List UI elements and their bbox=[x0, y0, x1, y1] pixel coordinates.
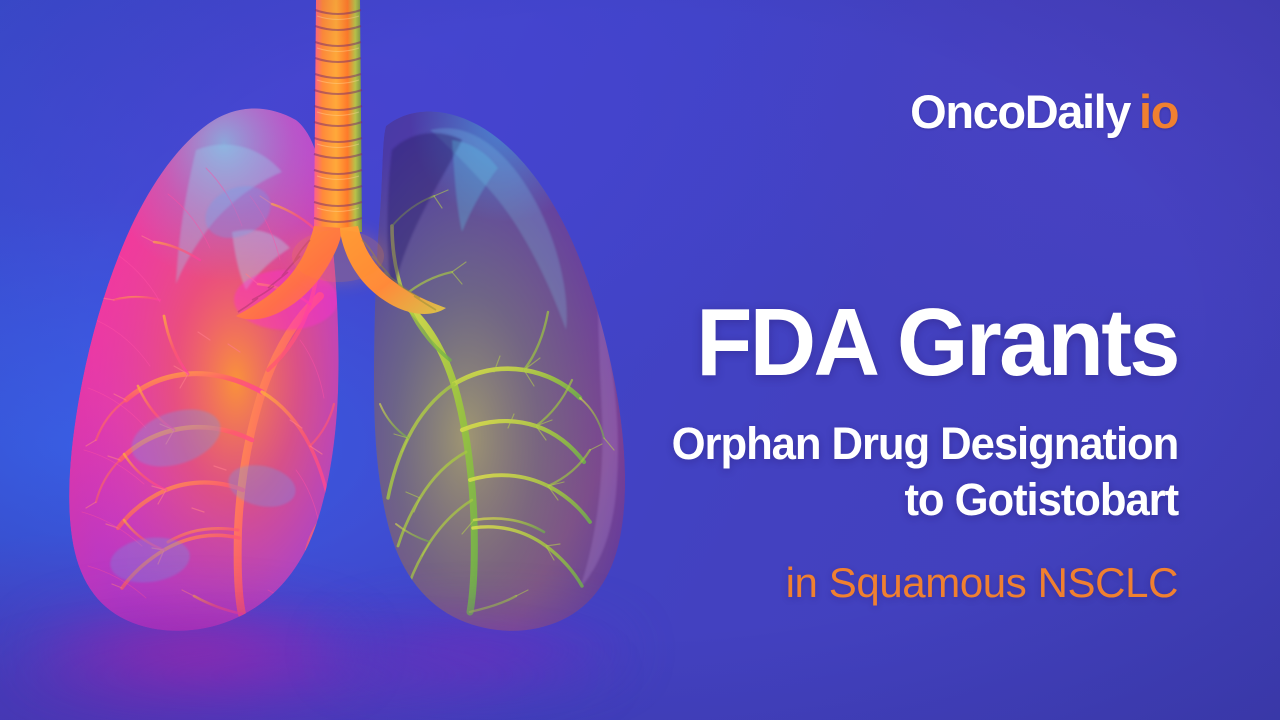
news-card-canvas: OncoDailyio FDA Grants Orphan Drug Desig… bbox=[0, 0, 1280, 720]
subtitle-line-1: Orphan Drug Designation bbox=[671, 421, 1178, 467]
tagline: in Squamous NSCLC bbox=[786, 562, 1178, 604]
oncodaily-logo[interactable]: OncoDailyio bbox=[910, 88, 1178, 135]
subtitle-line-2: to Gotistobart bbox=[904, 477, 1178, 523]
logo-tld-text: io bbox=[1139, 85, 1178, 138]
logo-brand-text: OncoDaily bbox=[910, 85, 1130, 138]
headline: FDA Grants bbox=[696, 296, 1178, 389]
